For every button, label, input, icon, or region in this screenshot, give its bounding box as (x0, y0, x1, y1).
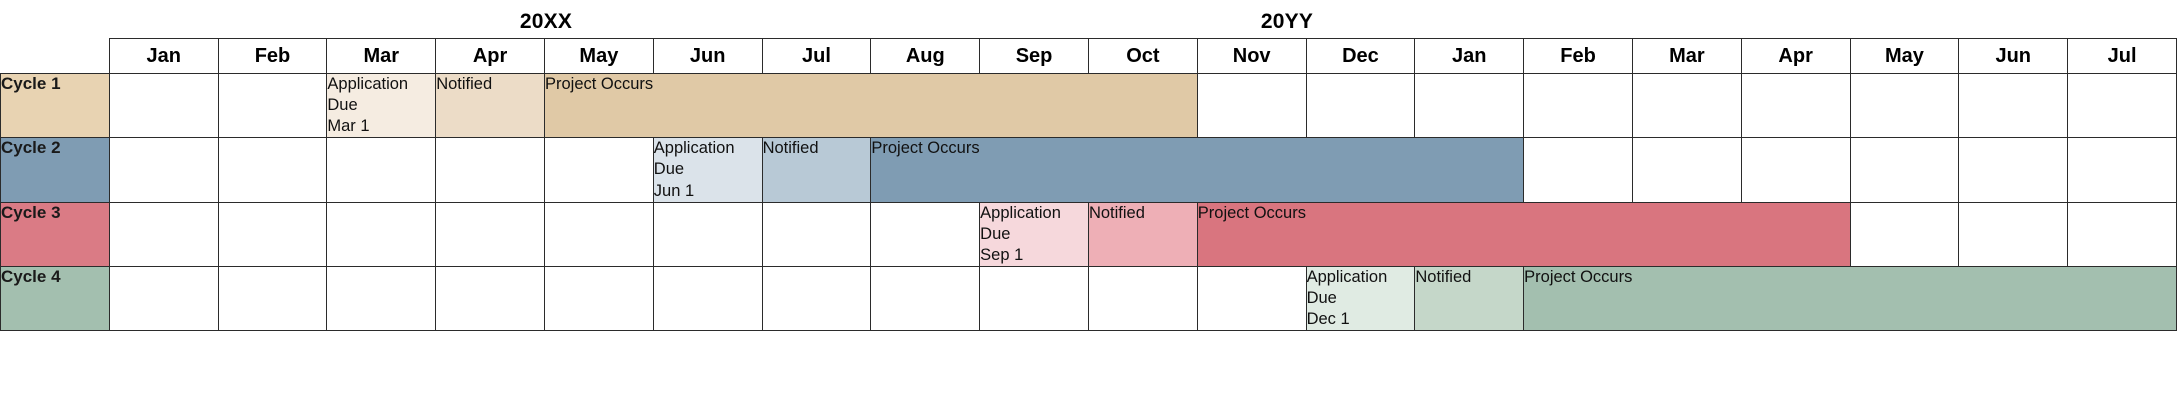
year-label-20yy: 20YY (1014, 11, 1560, 38)
empty-cell (1850, 138, 1959, 202)
empty-cell (218, 202, 327, 266)
empty-cell (327, 266, 436, 330)
notified-cell-cycle-1: Notified (436, 74, 545, 138)
month-header-jan-0: Jan (109, 39, 218, 74)
empty-cell (871, 202, 980, 266)
application-due-cell-cycle-2: Application Due Jun 1 (653, 138, 762, 202)
cycle-label-4: Cycle 4 (1, 266, 110, 330)
month-header-jun-17: Jun (1959, 39, 2068, 74)
empty-cell (1524, 74, 1633, 138)
month-header-nov-10: Nov (1197, 39, 1306, 74)
empty-cell (109, 266, 218, 330)
empty-cell (218, 138, 327, 202)
project-occurs-cell-cycle-4: Project Occurs (1524, 266, 2177, 330)
month-header-jan-12: Jan (1415, 39, 1524, 74)
empty-cell (980, 266, 1089, 330)
month-header-jul-6: Jul (762, 39, 871, 74)
month-header-sep-8: Sep (980, 39, 1089, 74)
notified-cell-cycle-4: Notified (1415, 266, 1524, 330)
cycle-row: Cycle 2Application Due Jun 1NotifiedProj… (1, 138, 2177, 202)
application-due-cell-cycle-4: Application Due Dec 1 (1306, 266, 1415, 330)
empty-cell (109, 138, 218, 202)
year-header-band: 20XX 20YY (0, 0, 2177, 38)
month-header-row: JanFebMarAprMayJunJulAugSepOctNovDecJanF… (1, 39, 2177, 74)
month-header-mar-14: Mar (1632, 39, 1741, 74)
cycle-row: Cycle 1Application Due Mar 1NotifiedProj… (1, 74, 2177, 138)
month-header-jun-5: Jun (653, 39, 762, 74)
notified-cell-cycle-2: Notified (762, 138, 871, 202)
project-occurs-cell-cycle-1: Project Occurs (544, 74, 1197, 138)
project-occurs-cell-cycle-3: Project Occurs (1197, 202, 1850, 266)
empty-cell (218, 74, 327, 138)
empty-cell (1306, 74, 1415, 138)
application-due-cell-cycle-1: Application Due Mar 1 (327, 74, 436, 138)
month-header-aug-7: Aug (871, 39, 980, 74)
empty-cell (1524, 138, 1633, 202)
empty-cell (1959, 74, 2068, 138)
empty-cell (218, 266, 327, 330)
empty-cell (1959, 138, 2068, 202)
empty-cell (544, 202, 653, 266)
cycle-label-1: Cycle 1 (1, 74, 110, 138)
empty-cell (436, 138, 545, 202)
project-occurs-cell-cycle-2: Project Occurs (871, 138, 1524, 202)
year-label-20xx: 20XX (78, 11, 1014, 38)
cycle-label-3: Cycle 3 (1, 202, 110, 266)
empty-cell (327, 138, 436, 202)
cycle-row: Cycle 4Application Due Dec 1NotifiedProj… (1, 266, 2177, 330)
month-header-mar-2: Mar (327, 39, 436, 74)
empty-cell (436, 202, 545, 266)
month-header-may-16: May (1850, 39, 1959, 74)
empty-cell (2068, 138, 2177, 202)
cycle-label-2: Cycle 2 (1, 138, 110, 202)
empty-cell (1850, 74, 1959, 138)
month-header-dec-11: Dec (1306, 39, 1415, 74)
timeline-table: JanFebMarAprMayJunJulAugSepOctNovDecJanF… (0, 38, 2177, 331)
month-header-oct-9: Oct (1088, 39, 1197, 74)
empty-cell (1415, 74, 1524, 138)
empty-cell (436, 266, 545, 330)
empty-cell (2068, 74, 2177, 138)
month-header-apr-3: Apr (436, 39, 545, 74)
empty-cell (1741, 74, 1850, 138)
empty-cell (1959, 202, 2068, 266)
empty-cell (1632, 138, 1741, 202)
month-header-may-4: May (544, 39, 653, 74)
empty-cell (1741, 138, 1850, 202)
cycle-row: Cycle 3Application Due Sep 1NotifiedProj… (1, 202, 2177, 266)
header-corner-cell (1, 39, 110, 74)
empty-cell (544, 266, 653, 330)
empty-cell (1850, 202, 1959, 266)
empty-cell (653, 202, 762, 266)
month-header-feb-13: Feb (1524, 39, 1633, 74)
empty-cell (327, 202, 436, 266)
empty-cell (653, 266, 762, 330)
empty-cell (2068, 202, 2177, 266)
empty-cell (544, 138, 653, 202)
empty-cell (1632, 74, 1741, 138)
empty-cell (1197, 74, 1306, 138)
empty-cell (1197, 266, 1306, 330)
month-header-jul-18: Jul (2068, 39, 2177, 74)
empty-cell (109, 74, 218, 138)
gantt-timeline-chart: 20XX 20YY JanFebMarAprMayJunJulAugSepOct… (0, 0, 2177, 406)
month-header-apr-15: Apr (1741, 39, 1850, 74)
empty-cell (762, 202, 871, 266)
empty-cell (871, 266, 980, 330)
empty-cell (109, 202, 218, 266)
empty-cell (1088, 266, 1197, 330)
cycle-rows-body: Cycle 1Application Due Mar 1NotifiedProj… (1, 74, 2177, 331)
month-header-feb-1: Feb (218, 39, 327, 74)
notified-cell-cycle-3: Notified (1088, 202, 1197, 266)
empty-cell (762, 266, 871, 330)
application-due-cell-cycle-3: Application Due Sep 1 (980, 202, 1089, 266)
